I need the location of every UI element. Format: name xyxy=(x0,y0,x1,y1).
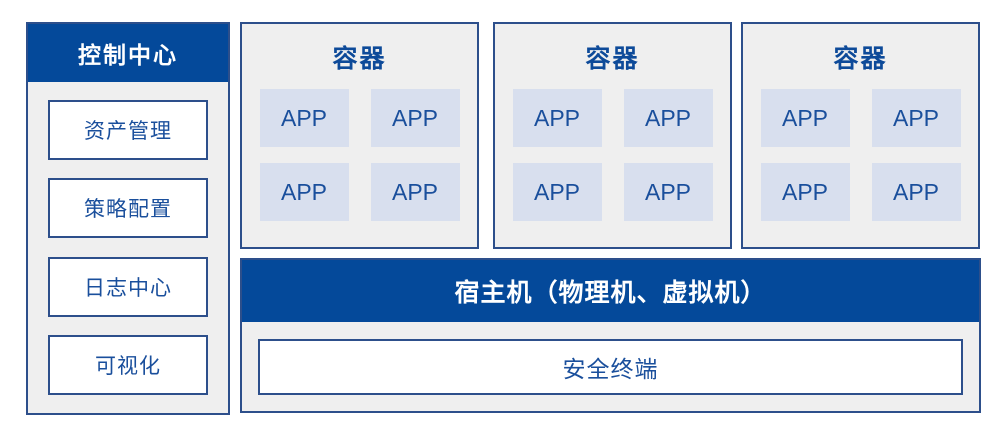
container-title: 容器 xyxy=(585,39,639,75)
control-center-panel: 控制中心 资产管理 策略配置 日志中心 可视化 xyxy=(26,22,230,415)
app-label: APP xyxy=(392,105,438,132)
host-machine-body: 安全终端 xyxy=(242,322,979,411)
secure-terminal-label: 安全终端 xyxy=(563,350,659,384)
app-label: APP xyxy=(534,105,580,132)
container-panel-1: 容器 APP APP APP APP xyxy=(240,22,479,249)
app-label: APP xyxy=(392,179,438,206)
app-box[interactable]: APP xyxy=(872,89,961,147)
app-box[interactable]: APP xyxy=(513,89,602,147)
app-label: APP xyxy=(534,179,580,206)
control-center-item-label: 策略配置 xyxy=(84,193,172,223)
app-box[interactable]: APP xyxy=(872,163,961,221)
app-box[interactable]: APP xyxy=(513,163,602,221)
control-center-item-policy-config[interactable]: 策略配置 xyxy=(48,178,208,238)
control-center-item-list: 资产管理 策略配置 日志中心 可视化 xyxy=(28,82,228,413)
app-box[interactable]: APP xyxy=(761,163,850,221)
app-box[interactable]: APP xyxy=(624,89,713,147)
control-center-item-label: 日志中心 xyxy=(84,272,172,302)
control-center-item-visualization[interactable]: 可视化 xyxy=(48,335,208,395)
app-box[interactable]: APP xyxy=(761,89,850,147)
control-center-header: 控制中心 xyxy=(28,24,228,82)
app-label: APP xyxy=(893,105,939,132)
app-label: APP xyxy=(281,105,327,132)
app-label: APP xyxy=(782,105,828,132)
diagram-canvas: 控制中心 资产管理 策略配置 日志中心 可视化 容器 APP APP xyxy=(0,0,1001,437)
container-title: 容器 xyxy=(332,39,386,75)
control-center-item-log-center[interactable]: 日志中心 xyxy=(48,257,208,317)
app-box[interactable]: APP xyxy=(371,89,460,147)
app-label: APP xyxy=(782,179,828,206)
container-panel-3: 容器 APP APP APP APP xyxy=(741,22,980,249)
app-grid: APP APP APP APP xyxy=(260,89,460,221)
host-machine-header: 宿主机（物理机、虚拟机） xyxy=(242,260,979,322)
app-box[interactable]: APP xyxy=(371,163,460,221)
host-machine-panel: 宿主机（物理机、虚拟机） 安全终端 xyxy=(240,258,981,413)
container-title: 容器 xyxy=(833,39,887,75)
app-label: APP xyxy=(645,179,691,206)
control-center-item-label: 资产管理 xyxy=(84,115,172,145)
app-label: APP xyxy=(281,179,327,206)
app-box[interactable]: APP xyxy=(260,163,349,221)
control-center-item-asset-management[interactable]: 资产管理 xyxy=(48,100,208,160)
app-grid: APP APP APP APP xyxy=(761,89,961,221)
app-box[interactable]: APP xyxy=(624,163,713,221)
app-box[interactable]: APP xyxy=(260,89,349,147)
app-label: APP xyxy=(645,105,691,132)
app-grid: APP APP APP APP xyxy=(513,89,713,221)
control-center-item-label: 可视化 xyxy=(95,350,161,380)
secure-terminal-box[interactable]: 安全终端 xyxy=(258,339,963,395)
app-label: APP xyxy=(893,179,939,206)
container-panel-2: 容器 APP APP APP APP xyxy=(493,22,732,249)
